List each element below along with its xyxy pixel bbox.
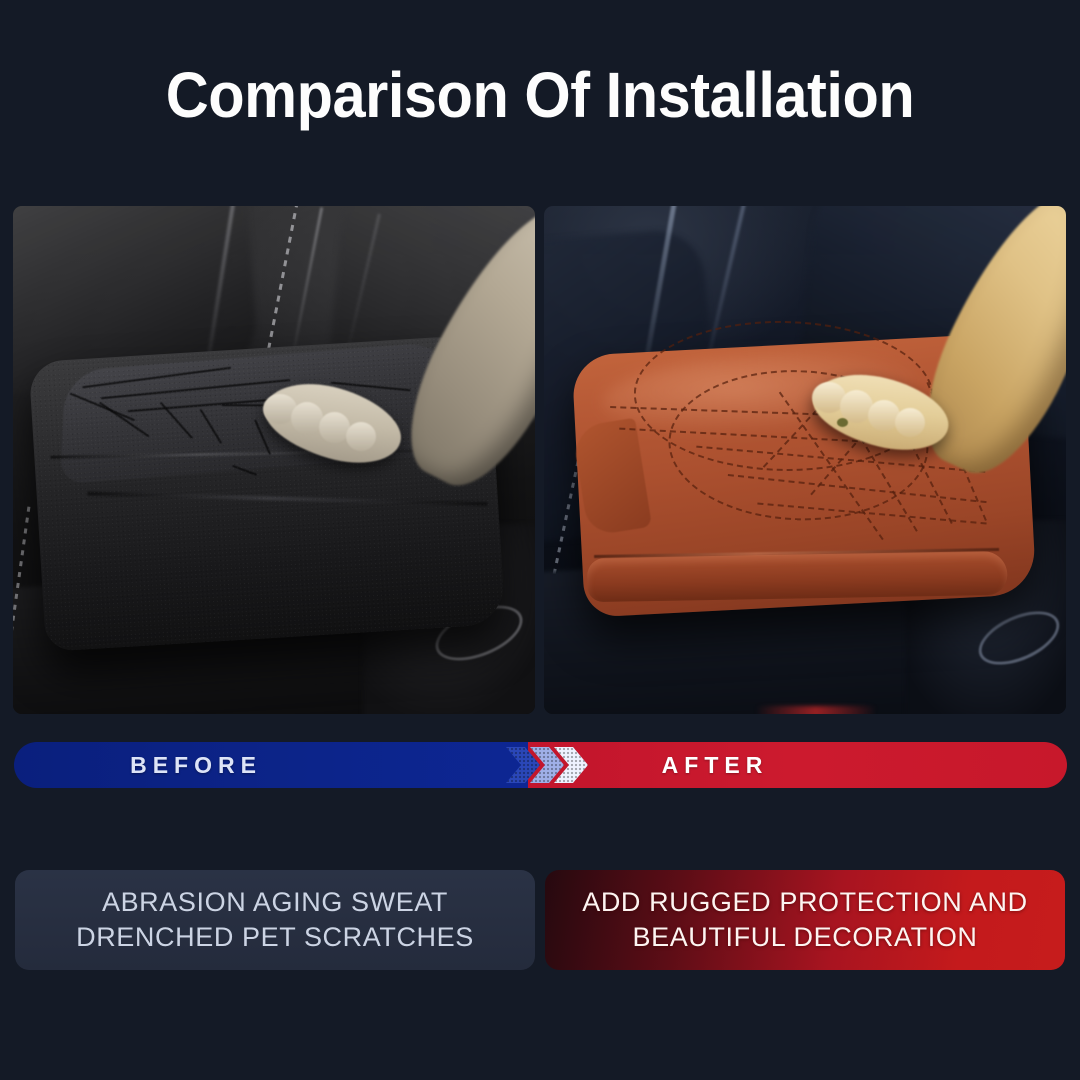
before-armrest-seam-2 (87, 492, 487, 506)
caption-after: ADD RUGGED PROTECTION AND BEAUTIFUL DECO… (545, 870, 1065, 970)
caption-after-line2: BEAUTIFUL DECORATION (632, 920, 977, 955)
banner-before-label: BEFORE (130, 752, 262, 779)
banner-arrows (504, 742, 624, 788)
before-after-banner: BEFORE AFTER (14, 742, 1067, 788)
dog-toe (346, 422, 376, 451)
after-accent-strip (756, 706, 876, 714)
before-armrest-top-face (60, 340, 464, 484)
dog-claw (837, 418, 848, 427)
cover-side-fold (572, 418, 652, 537)
dog-toe (895, 408, 925, 437)
scratch-mark (70, 393, 135, 422)
cover-bottom-lip (587, 551, 1008, 602)
caption-after-line1: ADD RUGGED PROTECTION AND (582, 885, 1028, 920)
caption-before: ABRASION AGING SWEAT DRENCHED PET SCRATC… (15, 870, 535, 970)
photo-comparison-row (13, 206, 1067, 714)
scratch-mark (99, 402, 150, 438)
scratch-mark (160, 402, 193, 439)
scratch-mark (232, 465, 257, 476)
after-photo (544, 206, 1066, 714)
banner-after-label: AFTER (662, 752, 769, 779)
caption-row: ABRASION AGING SWEAT DRENCHED PET SCRATC… (15, 870, 1065, 970)
scratch-mark (82, 367, 231, 389)
caption-before-line1: ABRASION AGING SWEAT (102, 885, 448, 920)
scratch-mark (101, 379, 290, 399)
scratch-mark (200, 409, 223, 444)
before-photo (13, 206, 535, 714)
scratch-mark (254, 419, 271, 455)
banner-before-half: BEFORE (14, 742, 528, 788)
page-title: Comparison Of Installation (38, 62, 1042, 129)
caption-before-line2: DRENCHED PET SCRATCHES (76, 920, 474, 955)
